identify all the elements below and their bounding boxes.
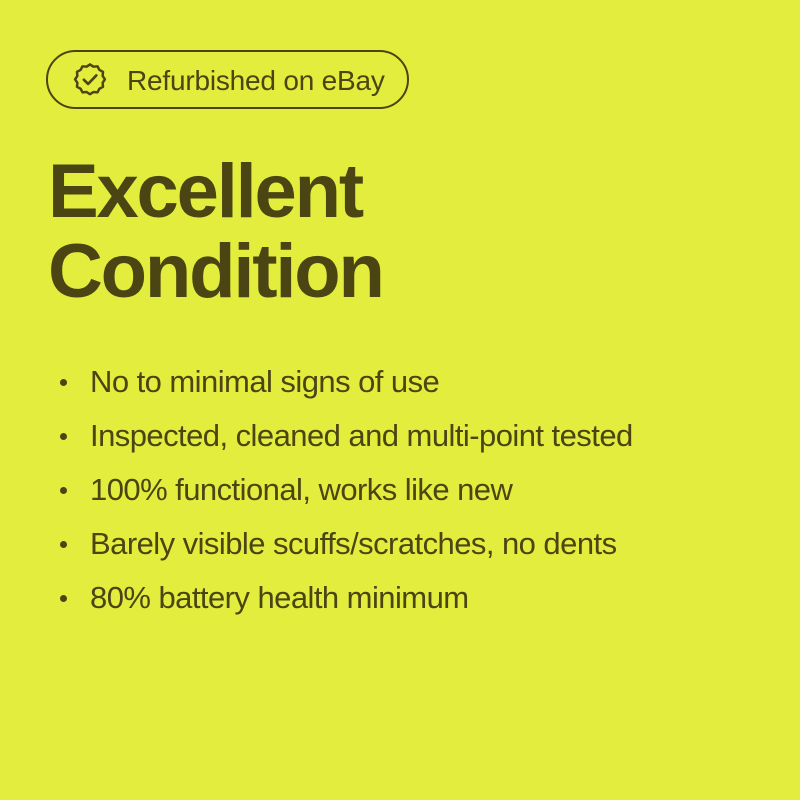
refurbished-badge: Refurbished on eBay <box>46 50 409 109</box>
list-item-label: Inspected, cleaned and multi-point teste… <box>90 416 633 456</box>
list-item: 100% functional, works like new <box>48 470 768 524</box>
page-title: Excellent Condition <box>48 152 648 312</box>
list-item-label: 80% battery health minimum <box>90 578 469 618</box>
list-item: 80% battery health minimum <box>48 578 768 632</box>
page-title-line-2: Condition <box>48 232 648 312</box>
bullet-dot-icon <box>60 541 67 548</box>
bullet-dot-icon <box>60 487 67 494</box>
list-item: Barely visible scuffs/scratches, no dent… <box>48 524 768 578</box>
refurbished-badge-label: Refurbished on eBay <box>127 67 385 95</box>
list-item-label: 100% functional, works like new <box>90 470 512 510</box>
list-item-label: Barely visible scuffs/scratches, no dent… <box>90 524 617 564</box>
condition-feature-list: No to minimal signs of use Inspected, cl… <box>48 362 768 632</box>
bullet-dot-icon <box>60 379 67 386</box>
bullet-dot-icon <box>60 433 67 440</box>
page-title-line-1: Excellent <box>48 152 648 232</box>
verified-rosette-check-icon <box>71 61 109 99</box>
refurbished-condition-card: Refurbished on eBay Excellent Condition … <box>0 0 800 800</box>
list-item-label: No to minimal signs of use <box>90 362 439 402</box>
bullet-dot-icon <box>60 595 67 602</box>
list-item: Inspected, cleaned and multi-point teste… <box>48 416 768 470</box>
list-item: No to minimal signs of use <box>48 362 768 416</box>
